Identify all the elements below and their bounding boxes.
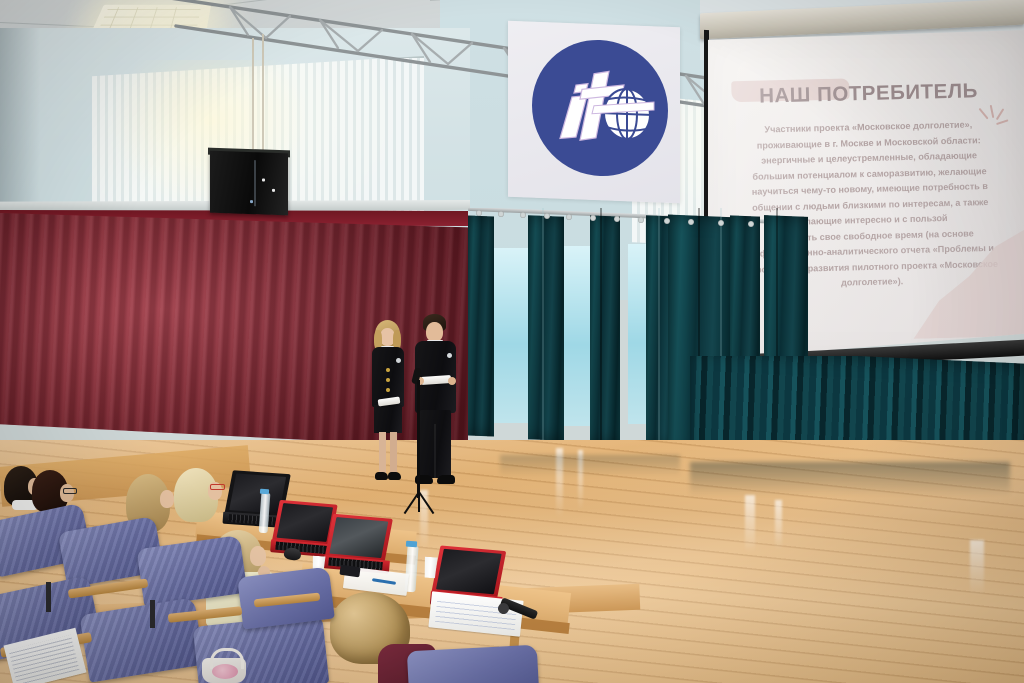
face xyxy=(426,322,443,342)
lapel-badge xyxy=(447,353,452,358)
mic-pole xyxy=(417,380,420,498)
seat-leg xyxy=(150,600,155,628)
blazer-button xyxy=(386,388,390,392)
floor-reflection xyxy=(745,495,755,553)
conference-hall-photo: НАШ ПОТРЕБИТЕЛЬ Участники проекта «Моско… xyxy=(0,0,1024,683)
curtain-reflection xyxy=(690,462,1010,496)
leg xyxy=(379,432,386,474)
eyeglasses-icon xyxy=(210,484,225,490)
lapel-badge xyxy=(396,358,401,363)
floor-reflection xyxy=(775,500,782,550)
floor-reflection xyxy=(970,540,984,596)
seat-leg xyxy=(46,582,51,612)
blazer-button xyxy=(386,378,390,382)
microphone-stand xyxy=(395,368,455,518)
eyeglasses-icon xyxy=(63,488,77,494)
mic-tripod-leg xyxy=(418,491,434,514)
audience-seat xyxy=(407,645,539,683)
shoe xyxy=(375,472,388,480)
hanging-cable-2 xyxy=(262,34,264,156)
bottle-cap-2 xyxy=(406,541,417,548)
face xyxy=(250,546,266,566)
pink-bow xyxy=(212,664,238,679)
mic-tripod-leg xyxy=(418,492,420,512)
gift-basket xyxy=(198,648,250,683)
wall-shadow xyxy=(0,28,40,228)
pa-speaker-box xyxy=(210,151,288,216)
hanging-cable-1 xyxy=(252,38,254,156)
ito-logo-icon xyxy=(532,37,668,178)
curtain-reflection xyxy=(500,455,680,477)
bottle-cap-1 xyxy=(260,489,269,495)
blazer-button xyxy=(386,368,390,372)
